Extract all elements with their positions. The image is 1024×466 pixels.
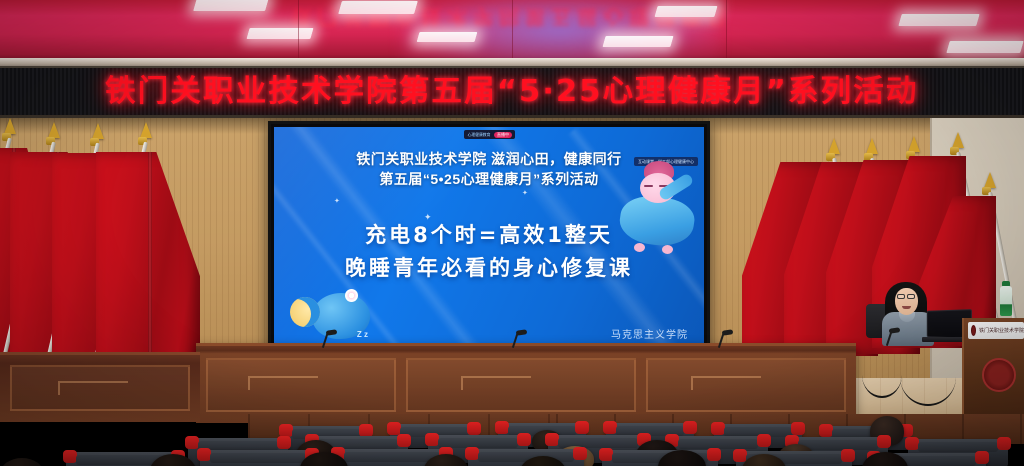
podium-nameplate-text: 铁门关职业技术学院 — [979, 327, 1024, 334]
ceiling-reflective-panel: 铁门关职业技术学院第五届心理健康月 — [0, 0, 1024, 62]
seat-cushion — [344, 452, 440, 462]
sleeping-moon-character-icon: Z z — [288, 283, 374, 345]
presenter-face — [895, 288, 918, 315]
auditorium-scene: 铁门关职业技术学院第五届心理健康月 铁门关职业技术学院第五届“5·25心理健康月… — [0, 0, 1024, 466]
audience-head — [0, 458, 44, 466]
flag-finial-spear — [866, 138, 878, 154]
slide-footer-org: 马克思主义学院 — [611, 326, 688, 341]
flag-finial-spear — [984, 172, 996, 188]
eyeglasses-icon — [907, 294, 915, 299]
cable — [900, 348, 956, 406]
ceiling-seam — [726, 0, 727, 62]
seat-cushion — [210, 453, 306, 463]
table-chevron-ornament — [691, 376, 761, 390]
flag-finial-spear — [908, 136, 920, 152]
flag-finial-spear — [4, 118, 16, 134]
led-banner-text: 铁门关职业技术学院第五届“5·25心理健康月”系列活动 — [105, 77, 918, 107]
slide-top-badge: 心理健康教育 直播中 — [464, 130, 515, 139]
university-crest-icon — [971, 325, 976, 336]
character-hand — [634, 243, 645, 252]
table-chevron-ornament — [461, 376, 531, 390]
character-hand — [662, 245, 673, 254]
audience-seating — [0, 414, 1024, 466]
head-table — [196, 343, 856, 423]
ceiling-light-panel — [338, 1, 418, 14]
water-bottle — [1000, 286, 1012, 316]
sparkle-icon: ✦ — [334, 197, 340, 205]
cable — [862, 352, 902, 398]
seat[interactable] — [200, 450, 316, 466]
ceiling-light-panel — [654, 6, 717, 17]
ceiling-light-panel — [898, 14, 979, 26]
sleep-z-icon: Z z — [357, 330, 368, 339]
flag-fold — [148, 152, 152, 370]
crescent-moon-icon — [290, 297, 320, 327]
ceiling-light-panel — [946, 41, 1023, 53]
projector-screen-frame: 心理健康教育 直播中 互动课堂 学工部心理健康中心 铁门关职业技术学院 滋润心田… — [268, 121, 710, 357]
slide-top-badge-text: 心理健康教育 — [468, 132, 491, 138]
ceiling-light-panel — [193, 0, 269, 11]
eyeglasses-icon — [897, 294, 905, 299]
ceiling-light-panel — [246, 28, 313, 39]
flower-icon — [345, 289, 358, 302]
slide-top-badge-pill: 直播中 — [494, 132, 512, 138]
flag-finial-spear — [48, 122, 60, 138]
podium-nameplate: 铁门关职业技术学院 — [968, 322, 1024, 339]
led-banner: 铁门关职业技术学院第五届“5·25心理健康月”系列活动 — [0, 66, 1024, 118]
podium-seal-emblem — [982, 358, 1016, 392]
ceiling-light-panel — [602, 36, 673, 47]
ceiling-seam — [298, 0, 299, 62]
sleeping-person-character-icon — [614, 159, 700, 259]
table-chevron-ornament — [248, 376, 318, 390]
ceiling-light-panel — [417, 32, 478, 42]
flag-finial-spear — [140, 122, 152, 138]
flag-finial-spear — [828, 138, 840, 154]
flag-finial-spear — [952, 132, 964, 148]
character-eye — [644, 185, 653, 187]
head-table-left-section — [0, 352, 200, 422]
flag-finial-spear — [92, 123, 104, 139]
sparkle-icon: ✦ — [522, 189, 528, 197]
ceiling-seam — [512, 0, 513, 62]
projector-screen[interactable]: 心理健康教育 直播中 互动课堂 学工部心理健康中心 铁门关职业技术学院 滋润心田… — [274, 127, 704, 351]
table-chevron-ornament — [58, 381, 128, 395]
